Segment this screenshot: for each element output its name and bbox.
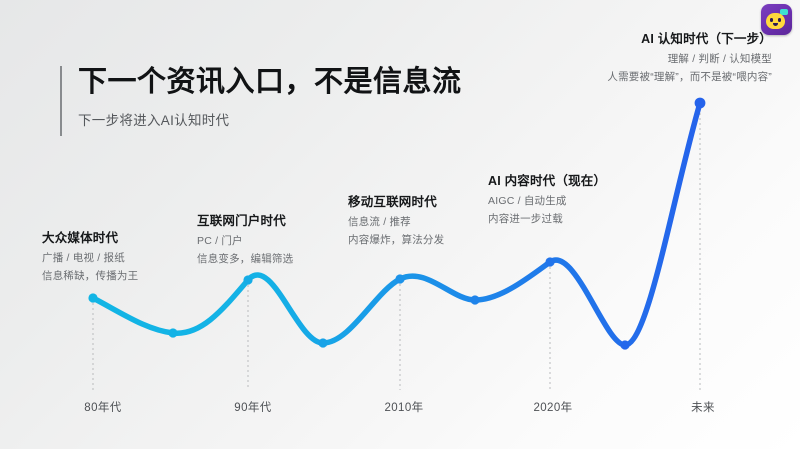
annotation-line: 内容进一步过载	[488, 213, 606, 226]
annotation-title: AI 内容时代（现在）	[488, 175, 606, 188]
annotation-mass-media: 大众媒体时代 广播 / 电视 / 报纸 信息稀缺，传播为王	[42, 232, 138, 283]
annotation-mobile-internet: 移动互联网时代 信息流 / 推荐 内容爆炸，算法分发	[348, 196, 444, 247]
x-axis-label-90s: 90年代	[234, 399, 271, 415]
x-axis-label-80s: 80年代	[84, 399, 121, 415]
data-point[interactable]	[695, 98, 706, 109]
data-point[interactable]	[470, 295, 479, 304]
annotation-ai-content: AI 内容时代（现在） AIGC / 自动生成 内容进一步过载	[488, 175, 606, 226]
slide-canvas: 下一个资讯入口，不是信息流 下一步将进入AI认知时代	[0, 0, 800, 449]
annotation-line: 广播 / 电视 / 报纸	[42, 252, 138, 265]
annotation-line: 信息稀缺，传播为王	[42, 270, 138, 283]
annotation-title: 移动互联网时代	[348, 196, 444, 209]
x-axis-label-2020: 2020年	[533, 399, 572, 415]
data-point[interactable]	[318, 338, 327, 347]
annotation-line: 内容爆炸，算法分发	[348, 234, 444, 247]
annotation-line: 信息变多，编辑筛选	[197, 253, 293, 266]
data-point[interactable]	[545, 257, 554, 266]
data-point[interactable]	[168, 328, 177, 337]
annotation-internet-portal: 互联网门户时代 PC / 门户 信息变多，编辑筛选	[197, 215, 293, 266]
annotation-ai-cognition: AI 认知时代（下一步） 理解 / 判断 / 认知模型 人需要被“理解”，而不是…	[607, 33, 772, 84]
data-point[interactable]	[243, 275, 252, 284]
annotation-title: AI 认知时代（下一步）	[607, 33, 772, 46]
annotation-line: AIGC / 自动生成	[488, 195, 606, 208]
data-point[interactable]	[620, 340, 629, 349]
x-axis-label-future: 未来	[691, 399, 715, 415]
annotation-line: 信息流 / 推荐	[348, 216, 444, 229]
data-point[interactable]	[88, 293, 97, 302]
annotation-line: PC / 门户	[197, 235, 293, 248]
data-point[interactable]	[395, 274, 404, 283]
x-axis-label-2010: 2010年	[384, 399, 423, 415]
annotation-title: 互联网门户时代	[197, 215, 293, 228]
annotation-line: 理解 / 判断 / 认知模型	[607, 53, 772, 66]
annotation-line: 人需要被“理解”，而不是被“喂内容”	[607, 71, 772, 84]
annotation-title: 大众媒体时代	[42, 232, 138, 245]
